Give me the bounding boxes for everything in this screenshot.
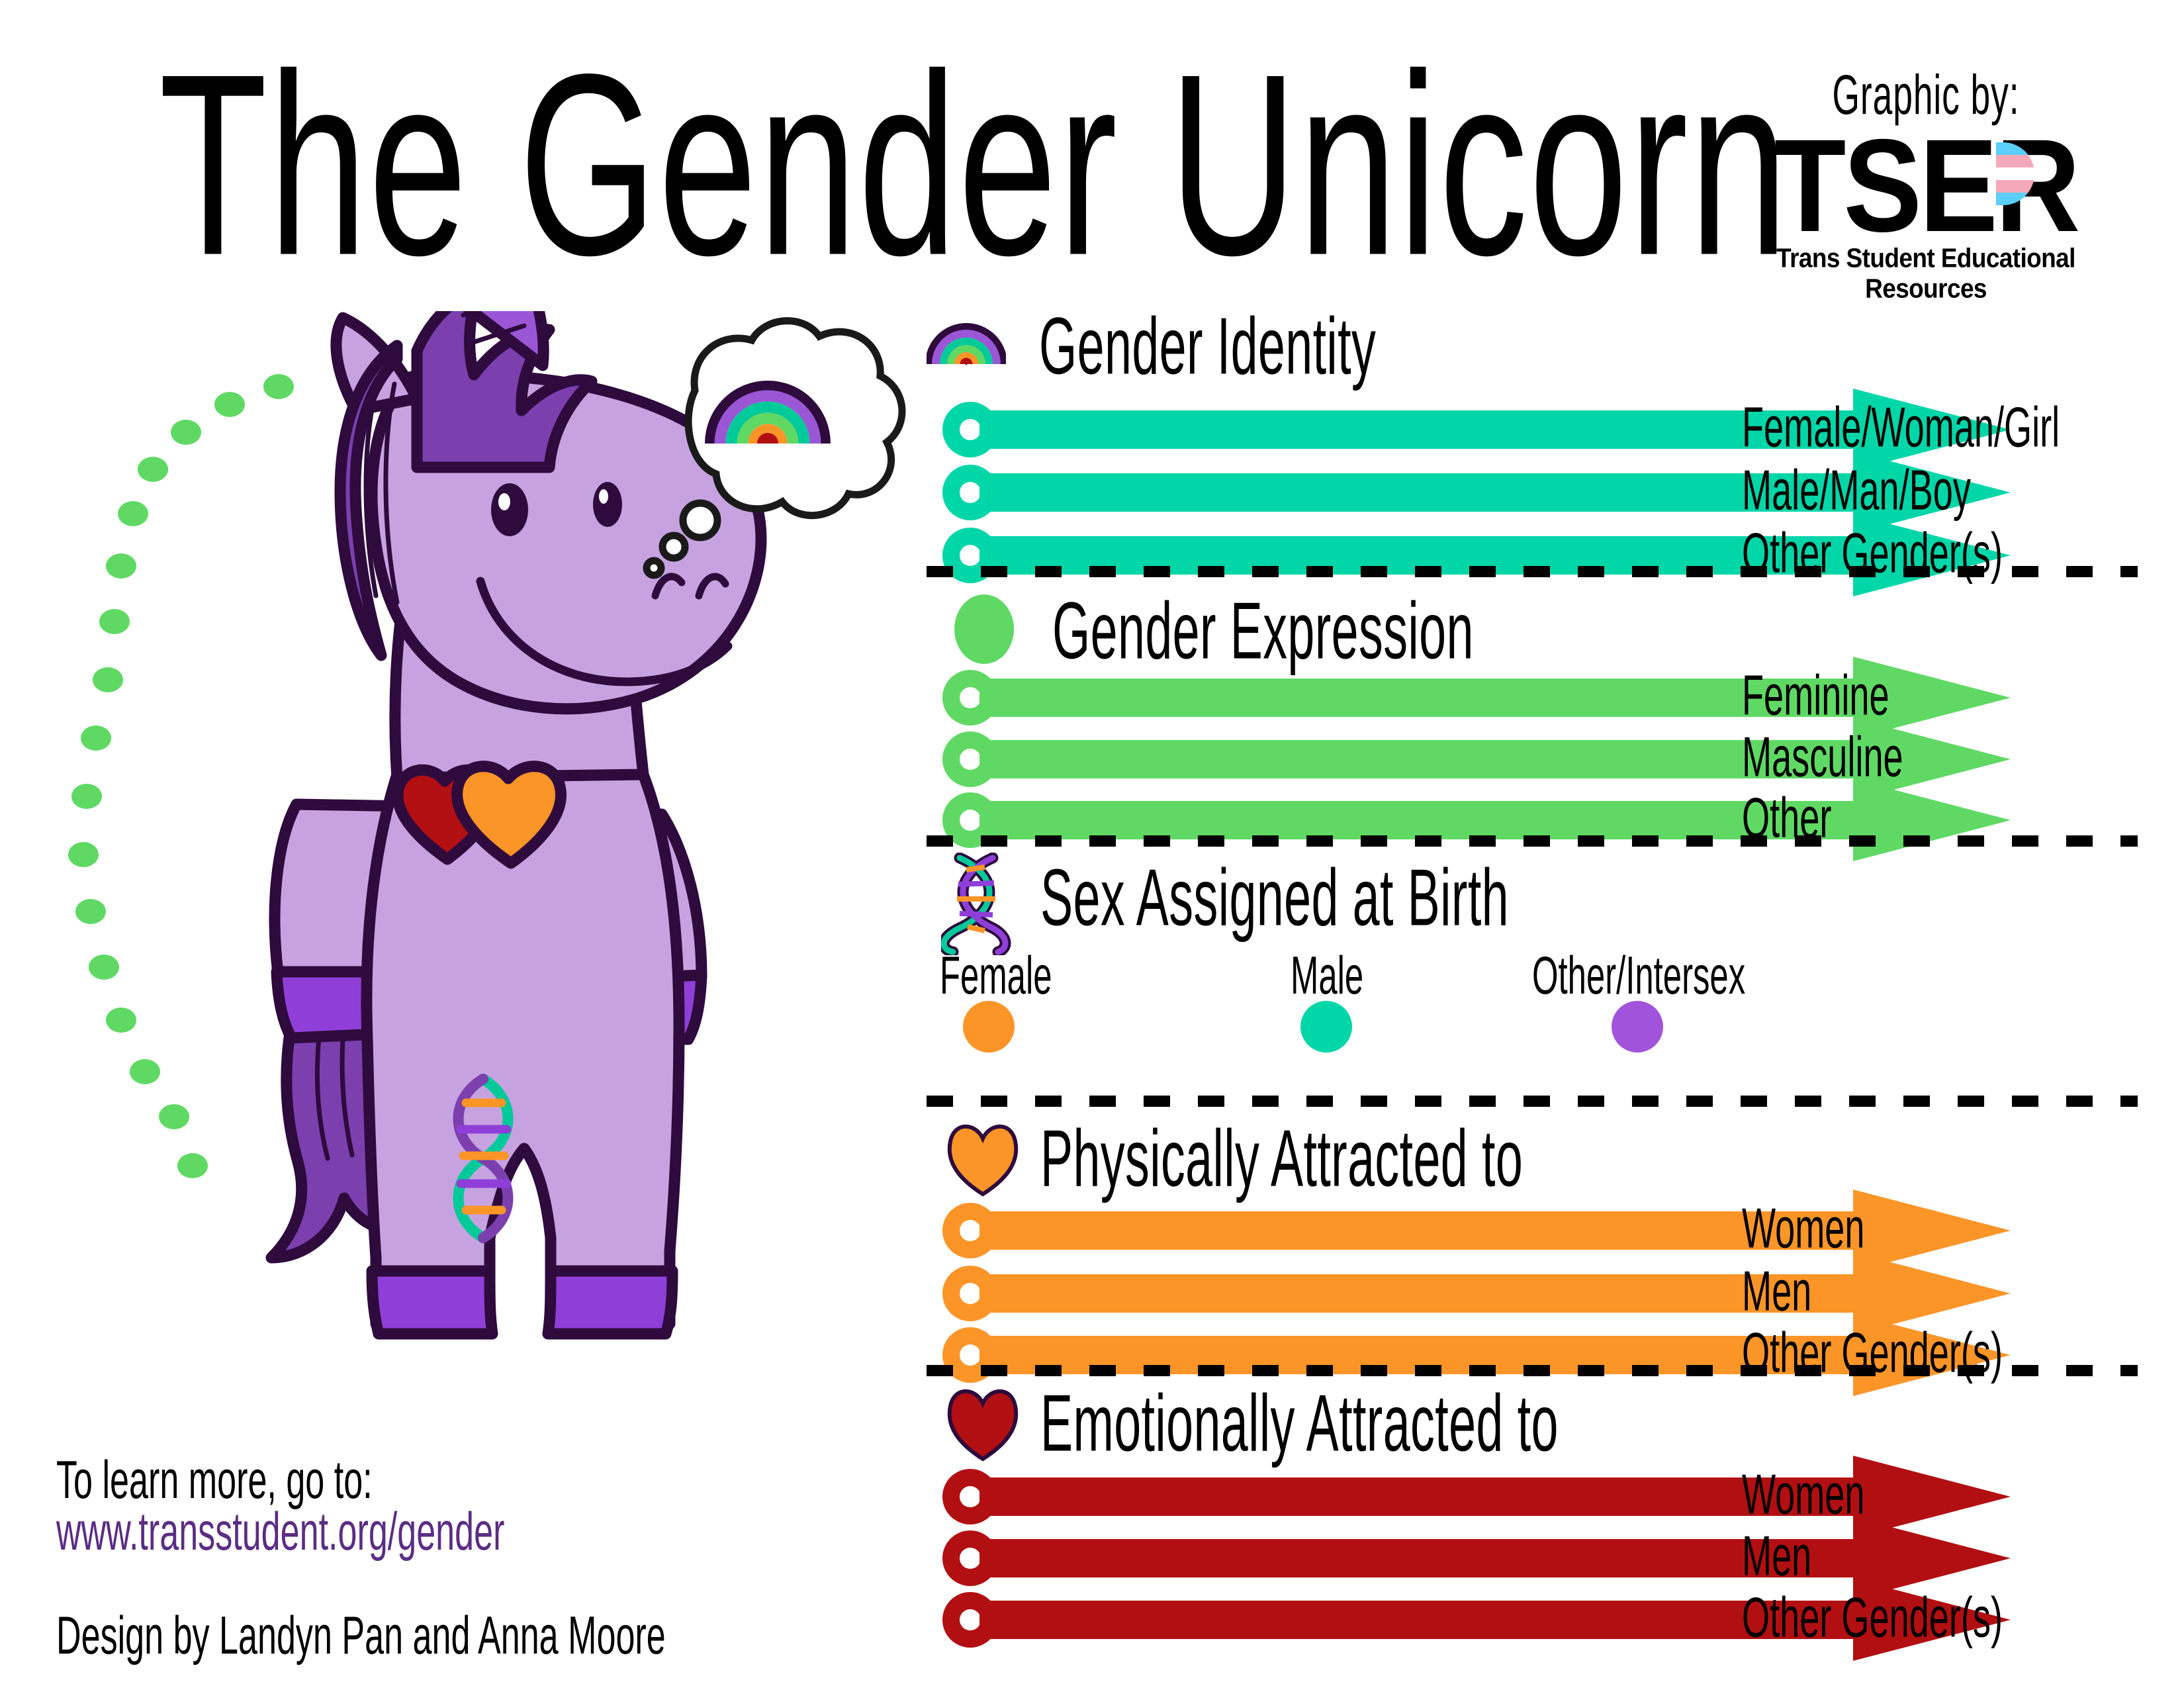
section-divider xyxy=(927,1096,2138,1107)
dna-helix-icon xyxy=(459,1079,508,1238)
infographic-canvas: The Gender Unicorn Graphic by: TSER Tran… xyxy=(0,0,2184,1688)
section-divider xyxy=(927,566,2138,577)
thought-bubble-dot-mid xyxy=(662,536,685,558)
arrow-knob-hole xyxy=(960,1548,981,1569)
arrow-knob-hole xyxy=(960,1344,981,1366)
arrow-label: Feminine xyxy=(1742,662,1889,727)
arrow-knob-hole xyxy=(960,419,981,440)
sab-dot-intersex xyxy=(1612,1001,1663,1053)
arrow-knob-hole xyxy=(960,687,981,708)
sab-dot-male xyxy=(1300,1001,1352,1053)
arrow-bar xyxy=(979,1477,1853,1516)
section-heading-emotionally-attracted-to: Emotionally Attracted to xyxy=(1040,1378,1559,1470)
sab-label-intersex: Other/Intersex xyxy=(1532,945,1745,1006)
arrow-knob-hole xyxy=(960,545,981,566)
arrow-bar xyxy=(979,679,1853,717)
green-circle-icon xyxy=(954,594,1014,664)
page-title: The Gender Unicorn xyxy=(159,25,1428,305)
arrow-bar xyxy=(979,473,1853,512)
arrow-bar xyxy=(979,1601,1853,1639)
website-url-link[interactable]: www.transstudent.org/gender xyxy=(56,1501,504,1562)
red-heart-icon xyxy=(946,1383,1019,1462)
arrow-label: Men xyxy=(1742,1523,1811,1588)
section-heading-gender-expression: Gender Expression xyxy=(1052,586,1474,678)
arrow-label: Other Gender(s) xyxy=(1742,1584,2003,1650)
section-divider xyxy=(927,1365,2138,1376)
arrow-label: Women xyxy=(1742,1195,1864,1260)
section-heading-sex-assigned-at-birth: Sex Assigned at Birth xyxy=(1040,853,1509,945)
section-heading-gender-identity: Gender Identity xyxy=(1039,301,1376,393)
unicorn-right-leg-cuff xyxy=(548,1271,672,1334)
arrow-bar xyxy=(979,1211,1853,1250)
arrow-knob-hole xyxy=(960,482,981,503)
sab-label-female: Female xyxy=(940,945,1052,1006)
arrow-label: Women xyxy=(1742,1461,1864,1526)
arrow-label: Female/Woman/Girl xyxy=(1742,394,2060,459)
orange-heart-icon xyxy=(946,1119,1019,1197)
tser-logo: Graphic by: TSER Trans Student Education… xyxy=(1721,63,2131,261)
arrow-knob-hole xyxy=(960,1220,981,1241)
section-heading-physically-attracted-to: Physically Attracted to xyxy=(1040,1113,1523,1205)
arrow-bar xyxy=(979,1274,1853,1313)
arrow-label: Male/Man/Boy xyxy=(1742,457,1971,522)
arrow-bar xyxy=(979,740,1853,778)
arrow-knob-hole xyxy=(960,1283,981,1304)
sab-label-male: Male xyxy=(1291,945,1363,1006)
rainbow-icon xyxy=(927,301,1006,367)
arrow-knob-hole xyxy=(960,1609,981,1630)
arrow-knob-hole xyxy=(960,810,981,831)
arrow-bar xyxy=(979,801,1853,839)
arrow-bar xyxy=(979,1539,1853,1577)
thought-bubble-dot-small xyxy=(647,561,661,575)
section-divider xyxy=(927,835,2138,847)
arrow-knob-hole xyxy=(960,1486,981,1507)
dna-helix-icon xyxy=(941,853,1014,955)
arrow-knob-hole xyxy=(960,749,981,770)
thought-bubble xyxy=(615,311,913,589)
tser-wordmark: TSER xyxy=(1721,120,2131,252)
thought-bubble-dot-large xyxy=(683,503,717,538)
arrow-label: Men xyxy=(1742,1258,1811,1323)
tser-tagline: Trans Student Educational Resources xyxy=(1721,243,2131,304)
arrow-head xyxy=(1853,779,2011,861)
rainbow-icon xyxy=(715,391,821,444)
unicorn-left-leg-cuff xyxy=(372,1271,492,1334)
sab-dot-female xyxy=(963,1001,1015,1053)
design-credit: Design by Landyn Pan and Anna Moore xyxy=(56,1605,666,1666)
arrow-bar xyxy=(979,410,1853,449)
